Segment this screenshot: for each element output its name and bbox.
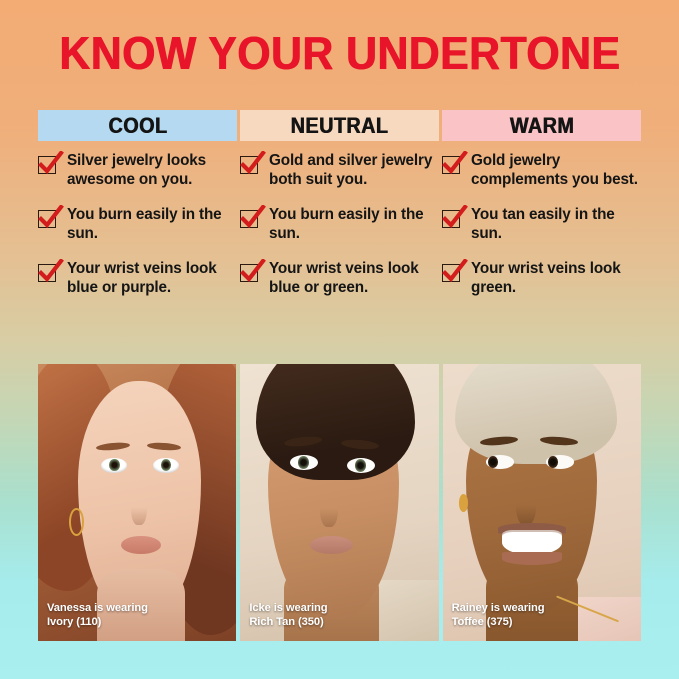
list-item: Your wrist veins look green. [442, 260, 641, 297]
list-item-label: Silver jewelry looks awesome on you. [67, 152, 237, 189]
list-item: Your wrist veins look blue or purple. [38, 260, 237, 297]
model-photo-row: Vanessa is wearing Ivory (110) Icke is w… [38, 364, 641, 641]
model-portrait-vanessa [38, 364, 236, 641]
checked-checkbox-icon [38, 154, 59, 175]
checked-checkbox-icon [240, 154, 261, 175]
photo-caption-line2: Toffee (375) [452, 616, 545, 629]
column-header-cool: COOL [38, 110, 237, 141]
undertone-checklist: Silver jewelry looks awesome on you. You… [38, 152, 641, 342]
checklist-column-cool: Silver jewelry looks awesome on you. You… [38, 152, 237, 342]
column-header-cool-label: COOL [108, 113, 167, 139]
photo-caption-cool: Vanessa is wearing Ivory (110) [47, 602, 148, 629]
page-title: KNOW YOUR UNDERTONE [24, 27, 655, 79]
list-item: Your wrist veins look blue or green. [240, 260, 439, 297]
list-item: Gold jewelry complements you best. [442, 152, 641, 189]
checked-checkbox-icon [38, 262, 59, 283]
checked-checkbox-icon [240, 262, 261, 283]
checked-checkbox-icon [38, 208, 59, 229]
list-item-label: Your wrist veins look blue or purple. [67, 260, 237, 297]
checked-checkbox-icon [442, 154, 463, 175]
list-item: You burn easily in the sun. [240, 206, 439, 243]
gold-hoop-earring-icon [69, 508, 84, 536]
list-item: You burn easily in the sun. [38, 206, 237, 243]
photo-caption-warm: Rainey is wearing Toffee (375) [452, 602, 545, 629]
photo-caption-line2: Rich Tan (350) [249, 616, 327, 629]
column-header-neutral: NEUTRAL [240, 110, 439, 141]
list-item-label: You burn easily in the sun. [269, 206, 439, 243]
checked-checkbox-icon [442, 262, 463, 283]
list-item: Gold and silver jewelry both suit you. [240, 152, 439, 189]
list-item-label: Gold and silver jewelry both suit you. [269, 152, 439, 189]
list-item-label: Gold jewelry complements you best. [471, 152, 641, 189]
photo-caption-line1: Icke is wearing [249, 602, 327, 615]
model-portrait-rainey [443, 364, 641, 641]
model-photo-cool: Vanessa is wearing Ivory (110) [38, 364, 236, 641]
undertone-infographic: KNOW YOUR UNDERTONE COOL NEUTRAL WARM Si… [0, 0, 679, 679]
list-item-label: Your wrist veins look blue or green. [269, 260, 439, 297]
photo-caption-line2: Ivory (110) [47, 616, 148, 629]
list-item: Silver jewelry looks awesome on you. [38, 152, 237, 189]
model-portrait-icke [240, 364, 438, 641]
photo-caption-line1: Rainey is wearing [452, 602, 545, 615]
column-header-neutral-label: NEUTRAL [291, 113, 389, 139]
checked-checkbox-icon [240, 208, 261, 229]
list-item-label: You tan easily in the sun. [471, 206, 641, 243]
checked-checkbox-icon [442, 208, 463, 229]
model-photo-neutral: Icke is wearing Rich Tan (350) [240, 364, 438, 641]
column-header-warm-label: WARM [509, 113, 573, 139]
photo-caption-line1: Vanessa is wearing [47, 602, 148, 615]
list-item: You tan easily in the sun. [442, 206, 641, 243]
checklist-column-warm: Gold jewelry complements you best. You t… [442, 152, 641, 342]
list-item-label: Your wrist veins look green. [471, 260, 641, 297]
model-photo-warm: Rainey is wearing Toffee (375) [443, 364, 641, 641]
column-header-warm: WARM [442, 110, 641, 141]
photo-caption-neutral: Icke is wearing Rich Tan (350) [249, 602, 327, 629]
checklist-column-neutral: Gold and silver jewelry both suit you. Y… [240, 152, 439, 342]
list-item-label: You burn easily in the sun. [67, 206, 237, 243]
undertone-header-bands: COOL NEUTRAL WARM [38, 110, 641, 141]
